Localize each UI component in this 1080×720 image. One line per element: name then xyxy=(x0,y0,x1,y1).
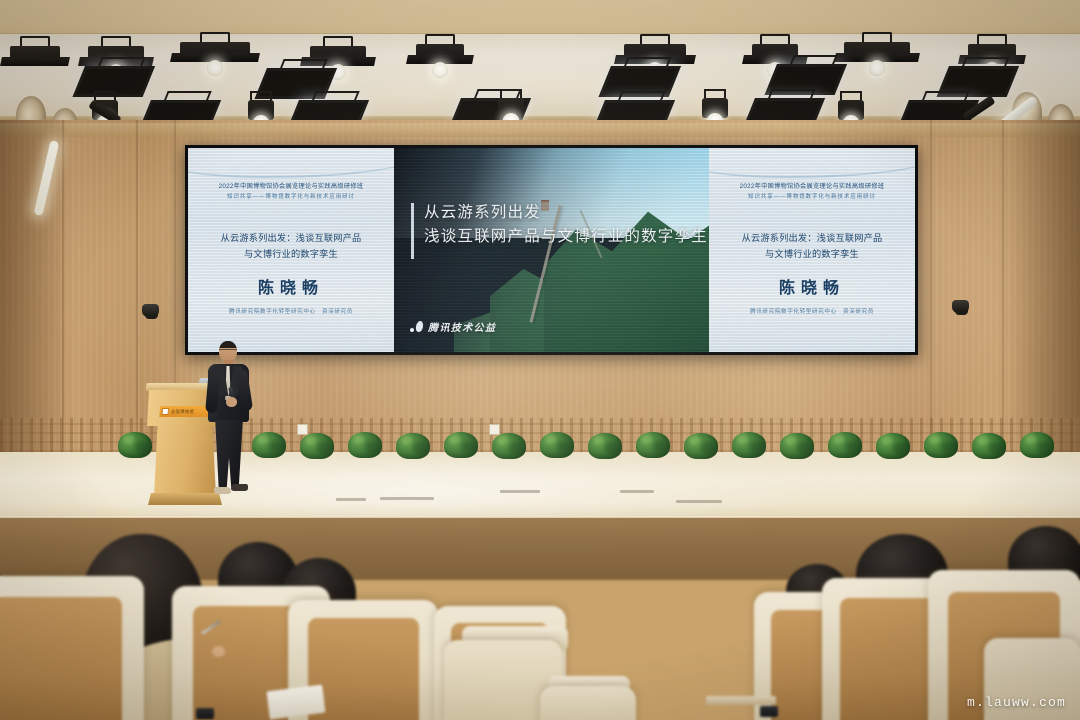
stage-plant xyxy=(300,433,334,459)
wall-top-trim xyxy=(0,123,1080,137)
slide-header-line2: 知识共享——博物馆数字化与新技术应用研讨 xyxy=(721,192,902,202)
slide-title-right: 从云游系列出发：浅谈互联网产品 与文博行业的数字孪生 xyxy=(721,230,902,262)
stage-plant xyxy=(588,433,622,459)
presenter-hand xyxy=(226,397,237,407)
slide-wave-decoration xyxy=(188,148,394,178)
wall-socket-icon xyxy=(489,424,500,435)
tencent-brand-text: 腾讯技术公益 xyxy=(428,319,496,334)
podium-logo-mark-icon xyxy=(161,408,169,415)
podium-logo-plate: 全国博物馆 xyxy=(159,406,210,417)
slide-header-line2: 知识共享——博物馆数字化与新技术应用研讨 xyxy=(200,192,381,202)
slide-speaker-name-left: 陈晓畅 xyxy=(200,274,381,298)
slide-panel-right: 2022年中国博物馆协会展览理论与实践高级研修班 知识共享——博物馆数字化与新技… xyxy=(709,148,915,352)
stage-plant xyxy=(732,432,766,458)
wall-camera-icon xyxy=(142,304,159,317)
slide-header-line1: 2022年中国博物馆协会展览理论与实践高级研修班 xyxy=(200,181,381,193)
floor-marking xyxy=(620,490,654,493)
presenter-shoe-left xyxy=(214,487,231,494)
podium-plate-text: 全国博物馆 xyxy=(171,409,195,415)
spotlight-icon xyxy=(248,100,274,120)
stage-plant xyxy=(348,432,382,458)
stage-plant xyxy=(780,433,814,459)
slide-panel-left: 2022年中国博物馆协会展览理论与实践高级研修班 知识共享——博物馆数字化与新技… xyxy=(188,148,394,352)
stage-plant xyxy=(540,432,574,458)
presenter-glasses-icon xyxy=(219,349,237,354)
audience-chair-empty xyxy=(540,686,636,720)
center-title-line2: 浅谈互联网产品与文博行业的数字孪生 xyxy=(424,225,714,249)
stage-light-panel-icon xyxy=(82,70,147,92)
slide-affiliation-right: 腾讯研究院数字化转型研究中心 资深研究员 xyxy=(721,307,902,315)
smartphone-icon xyxy=(760,706,778,717)
center-title-line1: 从云游系列出发 xyxy=(424,201,714,225)
slide-speaker-name-right: 陈晓畅 xyxy=(721,274,902,298)
stage-plant xyxy=(444,432,478,458)
slide-title-line1: 从云游系列出发：浅谈互联网产品 xyxy=(721,230,902,246)
stage-plant xyxy=(924,432,958,458)
stage-plant xyxy=(396,433,430,459)
stage-plant xyxy=(828,432,862,458)
wall-camera-icon xyxy=(952,300,969,313)
slide-wave-decoration xyxy=(709,148,915,178)
smartphone-icon xyxy=(196,708,214,719)
audience-hand xyxy=(212,646,225,657)
slide-title-center: 从云游系列出发 浅谈互联网产品与文博行业的数字孪生 xyxy=(424,201,714,249)
spotlight-icon xyxy=(838,100,864,120)
slide-panel-center: 从云游系列出发 浅谈互联网产品与文博行业的数字孪生 腾讯技术公益 xyxy=(394,148,715,352)
auditorium-presentation-photo: 2022年中国博物馆协会展览理论与实践高级研修班 知识共享——博物馆数字化与新技… xyxy=(0,0,1080,720)
audience-area xyxy=(0,520,1080,720)
floor-marking xyxy=(676,500,722,503)
stage-plant xyxy=(636,432,670,458)
watermark: m.lauww.com xyxy=(967,695,1066,710)
slide-affiliation-left: 腾讯研究院数字化转型研究中心 资深研究员 xyxy=(200,307,381,315)
floor-marking xyxy=(500,490,540,493)
stage-light-panel-icon xyxy=(946,70,1011,92)
tencent-logo-icon xyxy=(410,321,423,332)
presenter-person xyxy=(206,341,252,501)
floor-marking xyxy=(380,497,434,500)
stage-plant xyxy=(1020,432,1054,458)
spotlight-icon xyxy=(498,98,524,118)
presenter-trousers xyxy=(214,420,244,490)
spotlight-icon xyxy=(702,98,728,118)
slide-title-left: 从云游系列出发：浅谈互联网产品 与文博行业的数字孪生 xyxy=(200,230,381,262)
slide-title-line2: 与文博行业的数字孪生 xyxy=(721,246,902,262)
stage-plant xyxy=(252,432,286,458)
wall-socket-icon xyxy=(297,424,308,435)
audience-chair xyxy=(0,576,144,720)
stage-plant xyxy=(684,433,718,459)
tencent-brand-lockup: 腾讯技术公益 xyxy=(410,319,496,334)
slide-title-line2: 与文博行业的数字孪生 xyxy=(200,246,381,262)
slide-header-left: 2022年中国博物馆协会展览理论与实践高级研修班 知识共享——博物馆数字化与新技… xyxy=(200,181,381,203)
chair-tablet-arm xyxy=(706,696,776,705)
presenter-shoe-right xyxy=(231,484,248,491)
stage-plant xyxy=(492,433,526,459)
stage-light-panel-icon xyxy=(774,68,839,90)
floor-marking xyxy=(336,498,366,501)
stage-plant xyxy=(876,433,910,459)
slide-title-line1: 从云游系列出发：浅谈互联网产品 xyxy=(200,230,381,246)
led-video-wall[interactable]: 2022年中国博物馆协会展览理论与实践高级研修班 知识共享——博物馆数字化与新技… xyxy=(185,145,918,355)
slide-header-line1: 2022年中国博物馆协会展览理论与实践高级研修班 xyxy=(721,181,902,193)
stage-plant xyxy=(972,433,1006,459)
slide-header-right: 2022年中国博物馆协会展览理论与实践高级研修班 知识共享——博物馆数字化与新技… xyxy=(721,181,902,203)
slide-title-rule xyxy=(411,203,414,259)
stage-light-panel-icon xyxy=(608,70,673,92)
